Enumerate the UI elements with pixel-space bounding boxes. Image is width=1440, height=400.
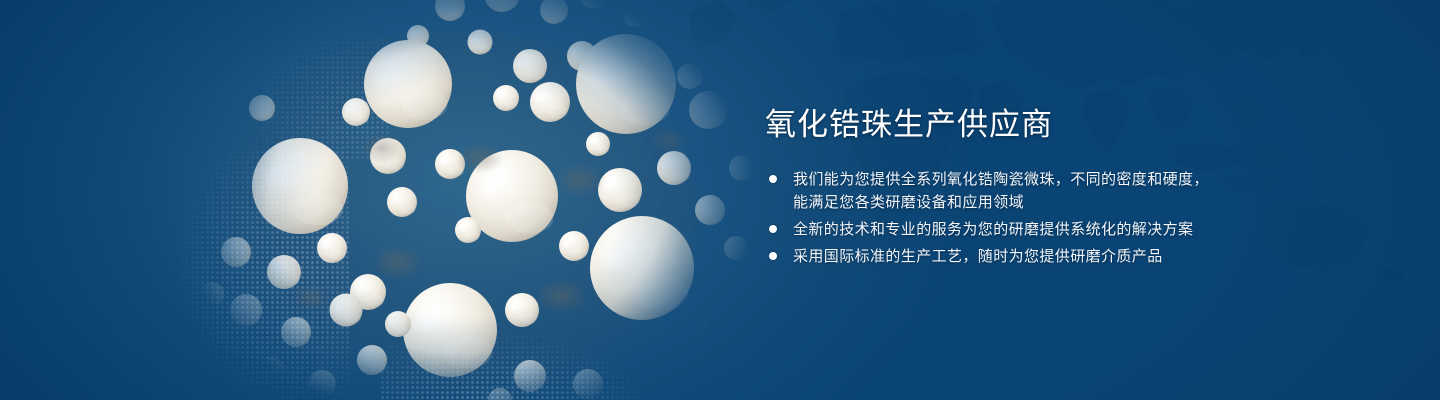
bullet-line-1: 全新的技术和专业的服务为您的研磨提供系统化的解决方案 xyxy=(793,221,1193,238)
list-item: 采用国际标准的生产工艺，随时为您提供研磨介质产品 xyxy=(765,245,1325,268)
bullet-dot-icon xyxy=(769,225,777,233)
page-title: 氧化锆珠生产供应商 xyxy=(765,108,1053,142)
banner-text-panel: 氧化锆珠生产供应商 我们能为您提供全系列氧化锆陶瓷微珠，不同的密度和硬度， 能满… xyxy=(765,0,1325,400)
bullet-text: 我们能为您提供全系列氧化锆陶瓷微珠，不同的密度和硬度， 能满足您各类研磨设备和应… xyxy=(793,168,1209,214)
bullet-line-1: 我们能为您提供全系列氧化锆陶瓷微珠，不同的密度和硬度， xyxy=(793,171,1209,188)
bullet-text: 采用国际标准的生产工艺，随时为您提供研磨介质产品 xyxy=(793,245,1163,268)
zirconia-beads-image xyxy=(150,0,760,400)
bullet-dot-icon xyxy=(769,175,777,183)
list-item: 全新的技术和专业的服务为您的研磨提供系统化的解决方案 xyxy=(765,218,1325,241)
feature-bullet-list: 我们能为您提供全系列氧化锆陶瓷微珠，不同的密度和硬度， 能满足您各类研磨设备和应… xyxy=(765,168,1325,272)
bullet-dot-icon xyxy=(769,252,777,260)
list-item: 我们能为您提供全系列氧化锆陶瓷微珠，不同的密度和硬度， 能满足您各类研磨设备和应… xyxy=(765,168,1325,214)
bullet-line-1: 采用国际标准的生产工艺，随时为您提供研磨介质产品 xyxy=(793,248,1163,265)
hero-banner: 氧化锆珠生产供应商 我们能为您提供全系列氧化锆陶瓷微珠，不同的密度和硬度， 能满… xyxy=(0,0,1440,400)
bullet-text: 全新的技术和专业的服务为您的研磨提供系统化的解决方案 xyxy=(793,218,1193,241)
bullet-line-2: 能满足您各类研磨设备和应用领域 xyxy=(793,191,1209,214)
